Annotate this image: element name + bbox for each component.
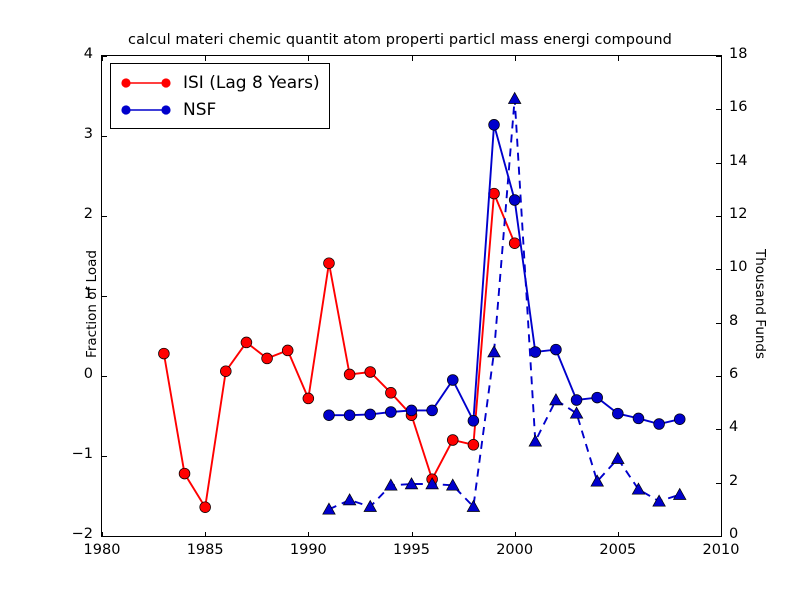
y-tick-label-right: 6	[729, 366, 738, 382]
y-tick-mark-right	[716, 536, 721, 537]
legend-label-nsf: NSF	[183, 100, 216, 120]
y-axis-right-label: Thousand Funds	[752, 204, 768, 404]
y-tick-mark-left	[102, 376, 107, 377]
legend-swatch-isi	[118, 77, 174, 89]
y-tick-mark-right	[716, 163, 721, 164]
x-tick-mark	[618, 532, 619, 537]
x-tick-mark	[515, 532, 516, 537]
x-tick-label: 2000	[493, 542, 537, 558]
legend-swatch-nsf	[118, 104, 174, 116]
y-tick-label-left: −1	[57, 446, 93, 462]
y-tick-mark-left	[102, 456, 107, 457]
legend-entry: ISI (Lag 8 Years)	[118, 69, 320, 96]
x-tick-mark	[308, 56, 309, 61]
x-tick-mark	[721, 532, 722, 537]
y-tick-mark-left	[102, 536, 107, 537]
x-tick-mark	[721, 56, 722, 61]
y-tick-mark-left	[102, 136, 107, 137]
y-tick-label-right: 8	[729, 313, 738, 329]
y-tick-label-right: 0	[729, 526, 738, 542]
y-tick-label-left: 4	[57, 46, 93, 62]
y-tick-label-right: 2	[729, 473, 738, 489]
legend-label-isi: ISI (Lag 8 Years)	[183, 73, 320, 93]
series-thousand-funds	[323, 92, 686, 514]
y-tick-label-right: 14	[729, 153, 747, 169]
x-tick-mark	[308, 532, 309, 537]
x-tick-label: 2010	[699, 542, 743, 558]
y-tick-mark-right	[716, 429, 721, 430]
series-isi-lag-8-years-	[159, 188, 521, 512]
x-tick-mark	[205, 532, 206, 537]
y-tick-label-left: 3	[57, 126, 93, 142]
y-tick-label-right: 18	[729, 46, 747, 62]
x-tick-label: 1985	[183, 542, 227, 558]
y-tick-mark-right	[716, 483, 721, 484]
y-tick-label-right: 4	[729, 419, 738, 435]
x-tick-label: 1980	[80, 542, 124, 558]
x-tick-label: 2005	[596, 542, 640, 558]
y-tick-mark-left	[102, 56, 107, 57]
chart-title: calcul materi chemic quantit atom proper…	[0, 32, 800, 48]
x-tick-mark	[412, 56, 413, 61]
y-tick-label-left: −2	[57, 526, 93, 542]
y-tick-mark-right	[716, 216, 721, 217]
y-tick-label-left: 2	[57, 206, 93, 222]
y-tick-mark-left	[102, 296, 107, 297]
y-tick-mark-right	[716, 56, 721, 57]
x-tick-mark	[205, 56, 206, 61]
y-tick-label-left: 1	[57, 286, 93, 302]
y-tick-label-right: 16	[729, 99, 747, 115]
y-tick-label-left: 0	[57, 366, 93, 382]
x-tick-label: 1995	[390, 542, 434, 558]
chart-legend: ISI (Lag 8 Years) NSF	[110, 63, 330, 129]
y-tick-mark-right	[716, 376, 721, 377]
y-tick-mark-right	[716, 269, 721, 270]
y-tick-label-right: 10	[729, 259, 747, 275]
y-tick-mark-left	[102, 216, 107, 217]
x-tick-mark	[618, 56, 619, 61]
y-tick-mark-right	[716, 323, 721, 324]
y-tick-label-right: 12	[729, 206, 747, 222]
x-tick-mark	[412, 532, 413, 537]
x-tick-label: 1990	[286, 542, 330, 558]
y-tick-mark-right	[716, 109, 721, 110]
x-tick-mark	[515, 56, 516, 61]
series-nsf	[324, 119, 686, 429]
chart-figure: calcul materi chemic quantit atom proper…	[0, 0, 800, 600]
legend-entry: NSF	[118, 96, 320, 123]
